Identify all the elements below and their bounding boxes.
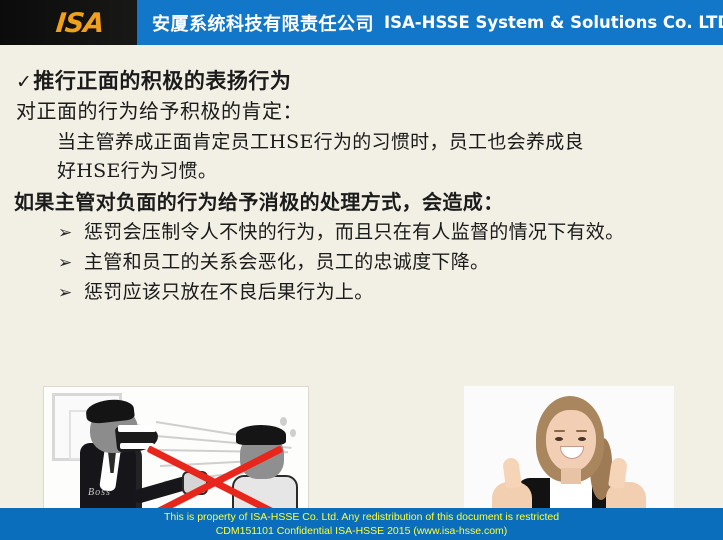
- isa-logo: ISA: [27, 8, 132, 38]
- woman-eye: [578, 437, 586, 441]
- slide-header: ISA 安厦系统科技有限责任公司 ISA-HSSE System & Solut…: [0, 0, 723, 45]
- employee-hair: [236, 425, 286, 445]
- boss-teeth: [118, 425, 156, 432]
- woman-neck: [561, 468, 581, 484]
- list-item-text: 主管和员工的关系会恶化，员工的忠诚度下降。: [84, 251, 489, 273]
- arrow-bullet-icon: ➢: [58, 249, 84, 278]
- paragraph-line-4: 好HSE行为习惯。: [57, 156, 217, 183]
- slide-footer: This is property of ISA-HSSE Co. Ltd. An…: [0, 508, 723, 540]
- company-name-cn: 安厦系统科技有限责任公司: [152, 10, 374, 36]
- slide-content: ✓推行正面的积极的表扬行为 对正面的行为给予积极的肯定： 当主管养成正面肯定员工…: [0, 45, 723, 508]
- paragraph-line-2: 对正面的行为给予积极的肯定：: [16, 95, 303, 124]
- isa-logo-text: ISA: [54, 10, 104, 37]
- company-name-en: ISA-HSSE System & Solutions Co. LTD: [384, 13, 723, 32]
- arrow-bullet-icon: ➢: [58, 219, 84, 248]
- list-item: ➢惩罚会压制令人不快的行为，而且只在有人监督的情况下有效。: [58, 218, 653, 248]
- heading-1: ✓推行正面的积极的表扬行为: [16, 65, 291, 95]
- thumb-left: [502, 457, 522, 489]
- check-icon: ✓: [16, 71, 32, 93]
- header-title: 安厦系统科技有限责任公司 ISA-HSSE System & Solutions…: [152, 0, 723, 45]
- woman-eyebrow: [554, 430, 565, 432]
- sweat-drop: [290, 429, 296, 437]
- woman-eye: [555, 437, 563, 441]
- list-item: ➢惩罚应该只放在不良后果行为上。: [58, 278, 698, 308]
- heading-1-text: 推行正面的积极的表扬行为: [33, 68, 291, 93]
- woman-eyebrow: [576, 430, 587, 432]
- list-item-text: 惩罚应该只放在不良后果行为上。: [84, 281, 374, 303]
- boss-jacket-label: Boss: [88, 487, 111, 498]
- paragraph-line-3: 当主管养成正面肯定员工HSE行为的习惯时，员工也会养成良: [57, 127, 584, 154]
- list-item-text: 惩罚会压制令人不快的行为，而且只在有人监督的情况下有效。: [84, 221, 624, 243]
- footer-line-1: This is property of ISA-HSSE Co. Ltd. An…: [164, 511, 559, 524]
- list-item: ➢主管和员工的关系会恶化，员工的忠诚度下降。: [58, 248, 698, 278]
- sweat-drop: [280, 417, 287, 426]
- woman-face: [546, 410, 596, 472]
- heading-2: 如果主管对负面的行为给予消极的处理方式，会造成：: [14, 186, 504, 215]
- arrow-bullet-icon: ➢: [58, 279, 84, 308]
- bullet-list: ➢惩罚会压制令人不快的行为，而且只在有人监督的情况下有效。 ➢主管和员工的关系会…: [58, 218, 698, 308]
- slide-root: ISA 安厦系统科技有限责任公司 ISA-HSSE System & Solut…: [0, 0, 723, 540]
- footer-line-2: CDM151101 Confidential ISA-HSSE 2015 (ww…: [216, 525, 508, 538]
